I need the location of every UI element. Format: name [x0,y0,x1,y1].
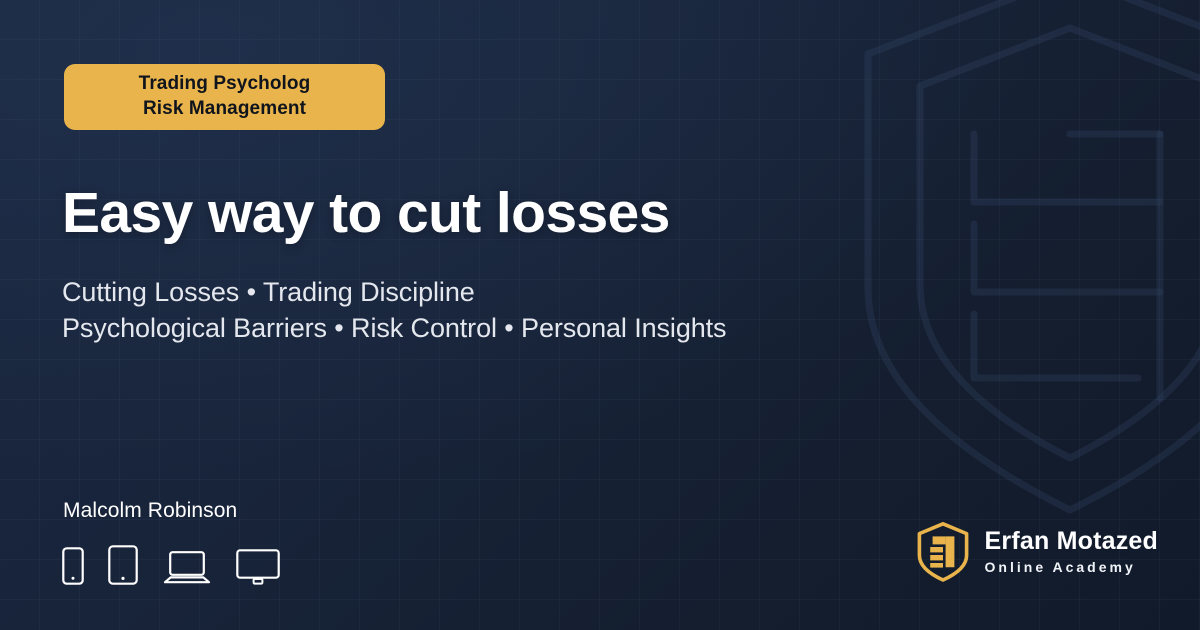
subtitle: Cutting Losses • Trading Discipline Psyc… [62,274,726,346]
social-share-card: Trading Psycholog Risk Management Easy w… [0,0,1200,630]
tablet-icon [108,545,138,585]
device-icon-row [62,545,280,585]
brand-tagline: Online Academy [985,558,1158,577]
author-name: Malcolm Robinson [63,498,237,524]
page-title: Easy way to cut losses [62,182,670,244]
laptop-icon [162,549,212,585]
brand-name: Erfan Motazed [985,527,1158,556]
subtitle-line-2: Psychological Barriers • Risk Control • … [62,310,726,346]
category-badge: Trading Psycholog Risk Management [64,64,385,130]
shield-monogram-logo [915,521,971,583]
category-badge-line-1: Trading Psycholog [80,71,369,96]
desktop-monitor-icon [236,549,280,585]
brand-lockup: Erfan Motazed Online Academy [915,521,1158,583]
shield-monogram-watermark [808,0,1200,538]
brand-text-block: Erfan Motazed Online Academy [985,527,1158,577]
subtitle-line-1: Cutting Losses • Trading Discipline [62,274,726,310]
mobile-phone-icon [62,547,84,585]
category-badge-line-2: Risk Management [80,96,369,121]
